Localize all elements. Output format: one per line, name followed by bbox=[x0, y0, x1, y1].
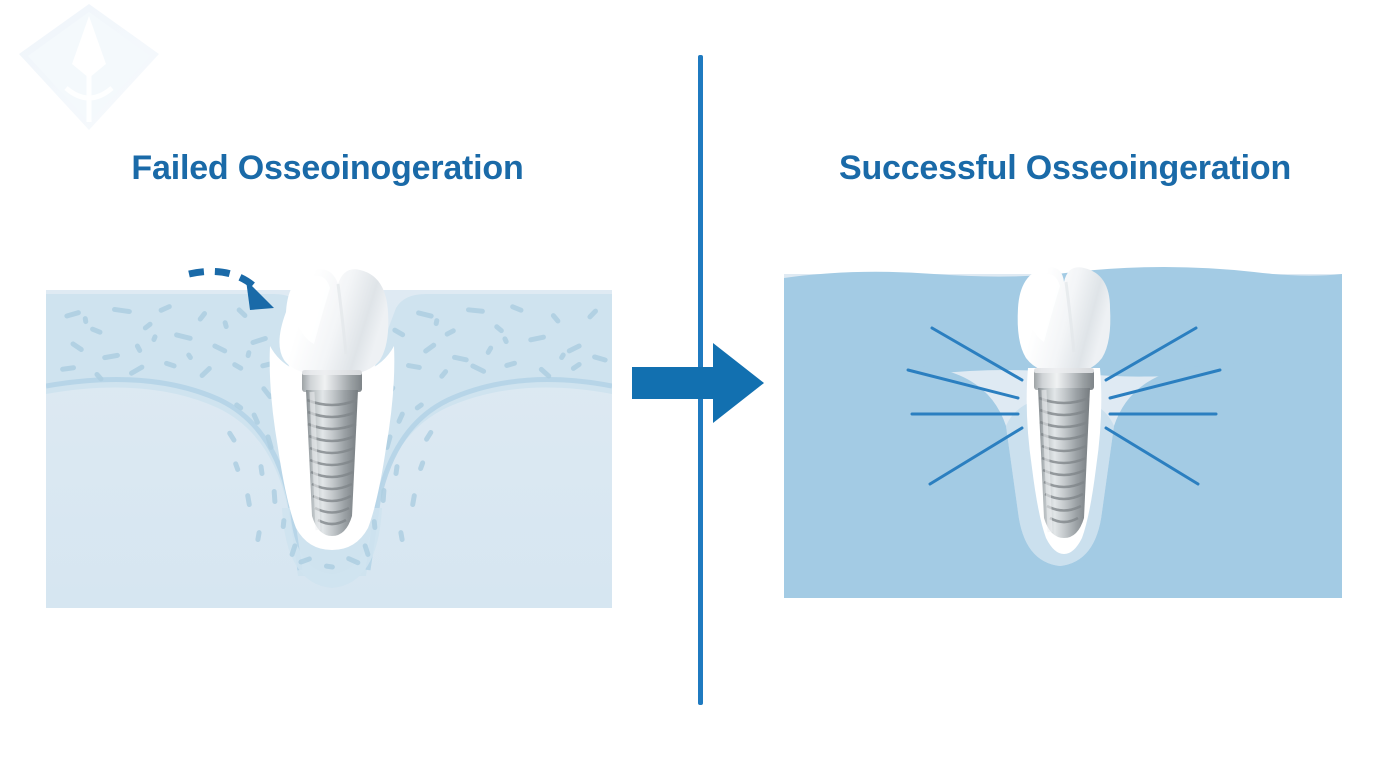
diagram-successful-osseointegration bbox=[784, 262, 1342, 598]
page-title-failed: Failed Osseoinogeration bbox=[0, 149, 655, 188]
diagram-failed-osseointegration bbox=[46, 258, 612, 608]
dental-logo-watermark bbox=[14, 2, 164, 134]
infographic-canvas: Failed Osseoinogeration Successful Osseo… bbox=[0, 0, 1400, 768]
progression-arrow bbox=[630, 340, 770, 426]
page-title-successful: Successful Osseoingeration bbox=[750, 149, 1380, 188]
